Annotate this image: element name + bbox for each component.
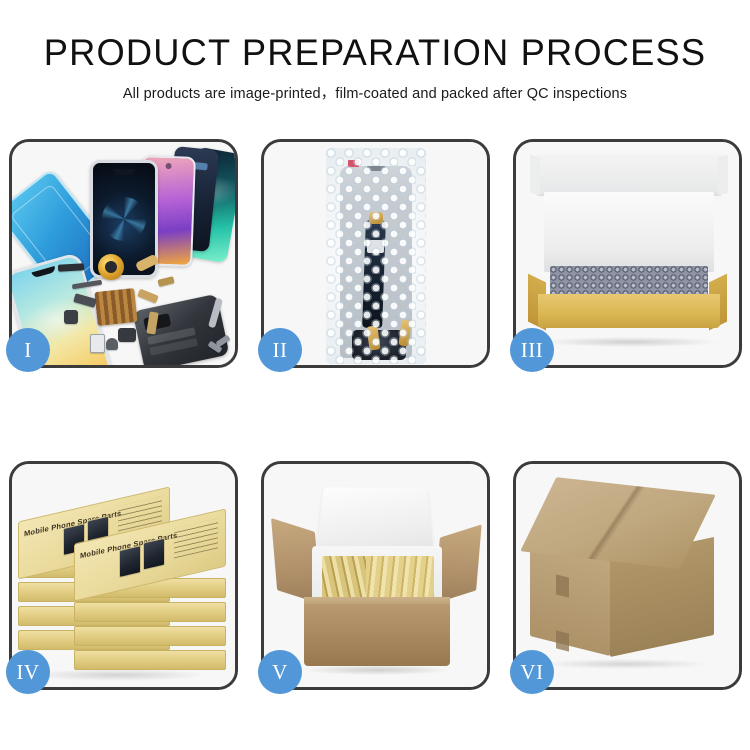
- box-front-icon: [538, 294, 720, 328]
- page-subtitle: All products are image-printed，film-coat…: [0, 73, 750, 103]
- screen-thumbnail-icon: [119, 545, 141, 578]
- packed-boxes-icon: [322, 556, 366, 600]
- drop-shadow: [30, 669, 206, 681]
- step-badge-1: I: [6, 328, 50, 372]
- small-part-icon: [106, 338, 118, 350]
- step-badge-2: II: [258, 328, 302, 372]
- bubble-wrapped-screen: [264, 142, 487, 365]
- process-step-panel-3[interactable]: III: [513, 139, 742, 368]
- open-carton-with-boxes: [264, 464, 487, 687]
- process-step-panel-4[interactable]: Mobile Phone Spare Parts Mobile Phone Sp…: [9, 461, 238, 690]
- process-step-panel-5[interactable]: V: [261, 461, 490, 690]
- box-stack: Mobile Phone Spare Parts Mobile Phone Sp…: [18, 482, 234, 672]
- chip-grid-icon: [94, 288, 137, 326]
- step-badge-5: V: [258, 650, 302, 694]
- drop-shadow: [542, 337, 718, 347]
- step-1-image: [12, 142, 235, 365]
- carton-tape-icon: [556, 574, 569, 597]
- step-badge-6: VI: [510, 650, 554, 694]
- gold-coil-icon: [98, 254, 124, 280]
- small-part-icon: [137, 289, 159, 304]
- carton-body-icon: [304, 604, 450, 666]
- step-2-image: [264, 142, 487, 365]
- step-5-image: [264, 464, 487, 687]
- process-step-panel-2[interactable]: II: [261, 139, 490, 368]
- step-3-image: [516, 142, 739, 365]
- box-lid-icon: [536, 154, 722, 196]
- stacked-spare-part-boxes: Mobile Phone Spare Parts Mobile Phone Sp…: [12, 464, 235, 687]
- header: PRODUCT PREPARATION PROCESS All products…: [0, 0, 750, 103]
- screen-thumbnail-icon: [143, 538, 165, 571]
- drop-shadow: [542, 659, 708, 669]
- small-part-icon: [90, 334, 105, 353]
- spec-lines-icon: [174, 518, 218, 558]
- process-step-panel-1[interactable]: I: [9, 139, 238, 368]
- process-steps-grid: I: [9, 139, 741, 690]
- step-badge-3: III: [510, 328, 554, 372]
- open-foam-lined-box: [516, 142, 739, 365]
- carton-tape-icon: [556, 630, 569, 651]
- sealed-shipping-carton: [516, 464, 739, 687]
- box-edge: [74, 626, 226, 646]
- small-part-icon: [64, 310, 78, 324]
- phones-and-parts-flatlay: [12, 142, 235, 365]
- bubble-texture-icon: [326, 148, 426, 364]
- product-preparation-infographic: PRODUCT PREPARATION PROCESS All products…: [0, 0, 750, 750]
- box-edge: [74, 650, 226, 670]
- drop-shadow: [304, 665, 450, 675]
- small-part-icon: [118, 328, 136, 342]
- box-edge: [74, 602, 226, 622]
- process-step-panel-6[interactable]: VI: [513, 461, 742, 690]
- bubble-bag-icon: [326, 148, 426, 364]
- small-part-icon: [58, 263, 84, 271]
- step-4-image: Mobile Phone Spare Parts Mobile Phone Sp…: [12, 464, 235, 687]
- step-6-image: [516, 464, 739, 687]
- step-badge-4: IV: [6, 650, 50, 694]
- page-title: PRODUCT PREPARATION PROCESS: [8, 0, 743, 73]
- white-foam-icon: [544, 192, 714, 272]
- small-part-icon: [157, 276, 174, 287]
